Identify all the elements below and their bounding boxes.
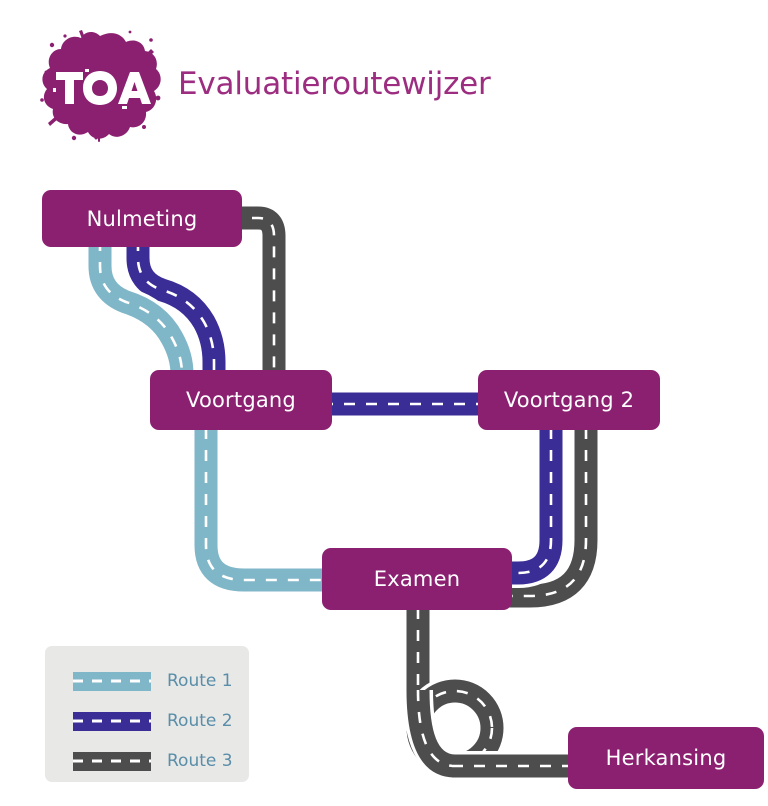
route-3-swatch (73, 752, 151, 771)
legend-item-route-1[interactable]: Route 1 (73, 664, 249, 698)
legend-label-route-1: Route 1 (167, 671, 233, 691)
node-voortgang-2[interactable]: Voortgang 2 (478, 370, 660, 430)
legend-item-route-2[interactable]: Route 2 (73, 704, 249, 738)
legend-label-route-2: Route 2 (167, 711, 233, 731)
legend-label-route-3: Route 3 (167, 751, 233, 771)
route-legend: Route 1 Route 2 Route 3 (45, 646, 249, 782)
node-herkansing[interactable]: Herkansing (568, 727, 764, 789)
route-2-swatch (73, 712, 151, 731)
node-examen[interactable]: Examen (322, 548, 512, 610)
route-1-swatch (73, 672, 151, 691)
legend-item-route-3[interactable]: Route 3 (73, 744, 249, 778)
route-2-dash (73, 720, 151, 723)
page-header: Evaluatieroutewijzer (0, 0, 768, 160)
toa-logo (38, 28, 162, 142)
route-3-dash (73, 760, 151, 763)
diagram-canvas: Evaluatieroutewijzer .rd { fill:none; st… (0, 0, 768, 806)
node-voortgang[interactable]: Voortgang (150, 370, 332, 430)
route-3-road (230, 218, 586, 766)
page-title: Evaluatieroutewijzer (178, 66, 491, 102)
node-nulmeting[interactable]: Nulmeting (42, 190, 242, 247)
route-1-dash (73, 680, 151, 683)
